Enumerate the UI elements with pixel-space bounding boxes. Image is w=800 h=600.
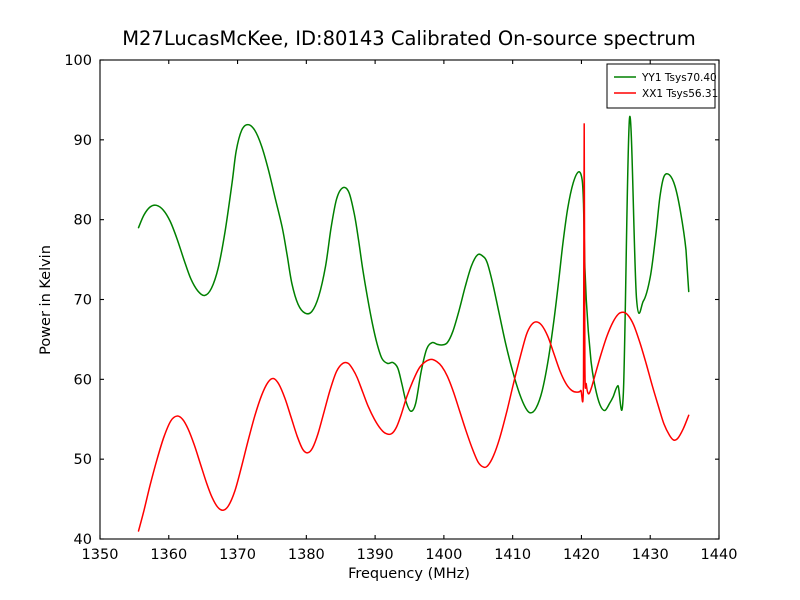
x-tick-label: 1400: [425, 547, 462, 563]
figure-canvas: M27LucasMcKee, ID:80143 Calibrated On-so…: [0, 0, 800, 600]
x-tick-label: 1410: [494, 547, 531, 563]
x-tick-label: 1360: [150, 547, 187, 563]
x-tick-label: 1350: [82, 547, 119, 563]
y-tick-label: 40: [74, 532, 92, 548]
y-tick-label: 100: [64, 53, 92, 69]
y-tick-label: 90: [74, 133, 92, 149]
y-tick-label: 70: [74, 293, 92, 309]
y-tick-label: 60: [74, 372, 92, 388]
y-tick-label: 50: [74, 452, 92, 468]
legend-label-xx1: XX1 Tsys56.31: [642, 88, 718, 100]
spectrum-plot: M27LucasMcKee, ID:80143 Calibrated On-so…: [0, 0, 800, 600]
x-tick-label: 1430: [632, 547, 669, 563]
x-tick-label: 1420: [563, 547, 600, 563]
x-tick-label: 1370: [219, 547, 256, 563]
y-tick-label: 80: [74, 213, 92, 229]
y-axis-label: Power in Kelvin: [38, 245, 54, 355]
legend-label-yy1: YY1 Tsys70.40: [641, 72, 717, 84]
chart-title: M27LucasMcKee, ID:80143 Calibrated On-so…: [122, 27, 696, 50]
legend: YY1 Tsys70.40XX1 Tsys56.31: [607, 64, 718, 108]
x-tick-label: 1440: [701, 547, 738, 563]
x-tick-label: 1380: [288, 547, 325, 563]
x-axis-label: Frequency (MHz): [348, 566, 470, 582]
x-tick-label: 1390: [357, 547, 394, 563]
legend-box: [607, 64, 715, 108]
